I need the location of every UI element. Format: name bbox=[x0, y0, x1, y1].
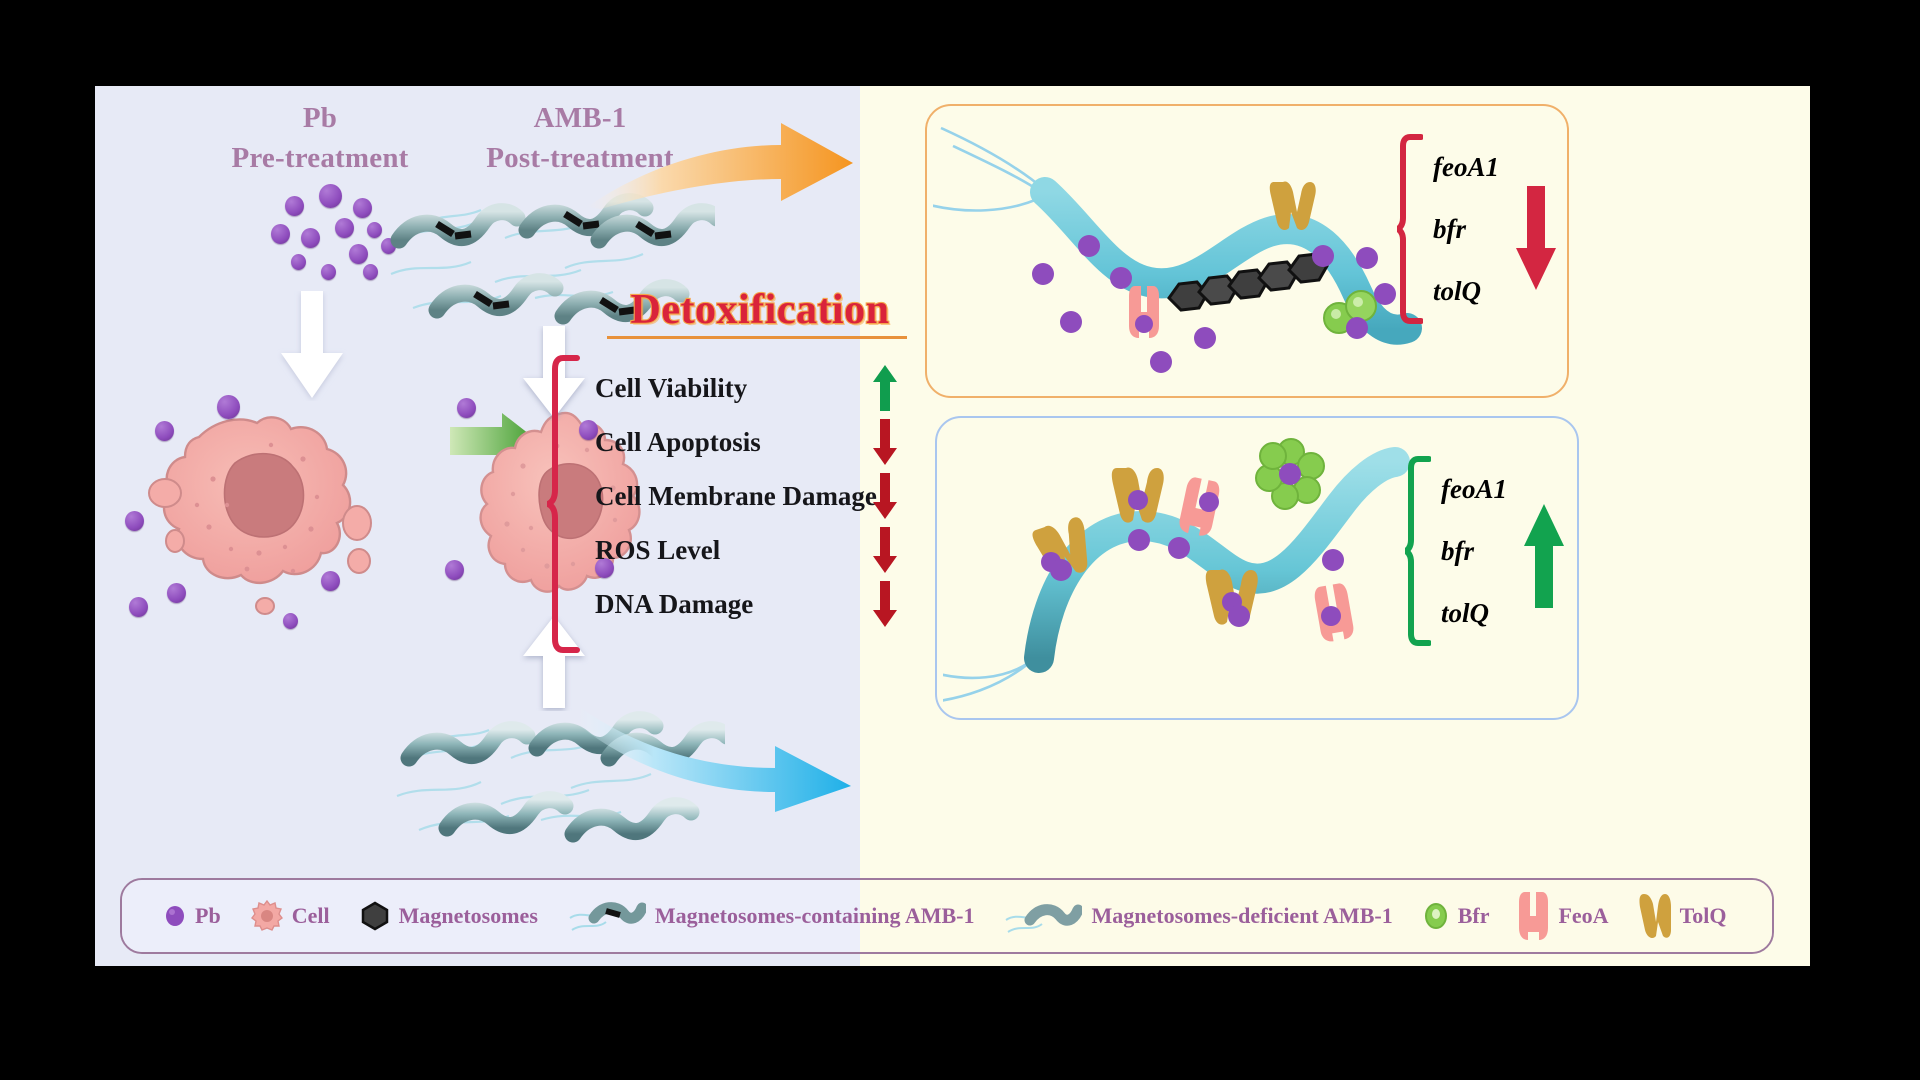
gene-name: tolQ bbox=[1433, 260, 1499, 322]
endpoint-row-dna-damage: DNA Damage bbox=[595, 577, 895, 631]
column-heading-pb-line1: Pb bbox=[210, 98, 430, 138]
bacterium-with-magnetosomes-illustration bbox=[933, 106, 1453, 392]
gene-name: feoA1 bbox=[1441, 458, 1507, 520]
gene-bracket-red bbox=[1397, 134, 1423, 324]
legend-label: Magnetosomes bbox=[399, 903, 538, 929]
legend-label: Magnetosomes-containing AMB-1 bbox=[655, 903, 975, 929]
cell-icon bbox=[251, 900, 283, 932]
bfr-icon bbox=[1423, 901, 1449, 931]
endpoint-label: Cell Apoptosis bbox=[595, 427, 761, 458]
amb1-without-magnetosomes-icon bbox=[1004, 894, 1082, 938]
endpoints-brace bbox=[547, 354, 581, 659]
detoxification-underline bbox=[607, 336, 907, 339]
pb-dot-icon bbox=[164, 904, 186, 928]
figure-canvas: Pb Pre-treatment AMB-1 Post-treatment bbox=[95, 86, 1810, 966]
gene-name: bfr bbox=[1433, 198, 1499, 260]
blue-curved-arrow bbox=[575, 706, 865, 821]
gene-name: feoA1 bbox=[1433, 136, 1499, 198]
feoa-icon bbox=[1313, 582, 1355, 643]
tolq-icon bbox=[1639, 892, 1671, 940]
legend-label: Magnetosomes-deficient AMB-1 bbox=[1091, 903, 1392, 929]
gene-group-downregulated: feoA1 bfr tolQ bbox=[1397, 134, 1557, 324]
screenshot-root: Pb Pre-treatment AMB-1 Post-treatment bbox=[0, 0, 1920, 1080]
endpoint-row-cell-viability: Cell Viability bbox=[595, 361, 895, 415]
endpoint-label: DNA Damage bbox=[595, 589, 753, 620]
arrow-down-cell-apoptosis bbox=[865, 415, 905, 469]
gene-bracket-green bbox=[1405, 456, 1431, 646]
endpoint-label: Cell Membrane Damage bbox=[595, 481, 877, 512]
arrow-down-ros-level bbox=[865, 523, 905, 577]
endpoint-list: Cell Viability Cell Apoptosis Cell Membr… bbox=[595, 361, 895, 631]
gene-name: tolQ bbox=[1441, 582, 1507, 644]
endpoint-row-cell-membrane-damage: Cell Membrane Damage bbox=[595, 469, 895, 523]
arrow-down-dna-damage bbox=[865, 577, 905, 631]
legend-item-magnetosomes: Magnetosomes bbox=[360, 901, 538, 931]
endpoint-row-cell-apoptosis: Cell Apoptosis bbox=[595, 415, 895, 469]
bfr-icon bbox=[1256, 439, 1324, 509]
endpoint-label: ROS Level bbox=[595, 535, 720, 566]
legend-item-cell: Cell bbox=[251, 900, 330, 932]
column-heading-pb-line2: Pre-treatment bbox=[210, 138, 430, 178]
legend-item-tolq: TolQ bbox=[1639, 892, 1727, 940]
feoa-icon bbox=[1519, 892, 1549, 940]
legend-item-pb: Pb bbox=[164, 903, 221, 929]
legend-label: Pb bbox=[195, 903, 221, 929]
legend-item-bfr: Bfr bbox=[1423, 901, 1490, 931]
panel-magnetosomes-containing: feoA1 bfr tolQ bbox=[925, 104, 1569, 398]
gene-names-top: feoA1 bfr tolQ bbox=[1433, 136, 1499, 322]
arrow-up-gene-expression bbox=[1523, 504, 1565, 608]
panel-magnetosomes-deficient: feoA1 bfr tolQ bbox=[935, 416, 1579, 720]
gene-name: bfr bbox=[1441, 520, 1507, 582]
legend-label: TolQ bbox=[1680, 903, 1727, 929]
endpoint-direction-arrows bbox=[865, 361, 905, 631]
legend-bar: Pb Cell Magnetosomes bbox=[120, 878, 1774, 954]
damaged-cell-illustration bbox=[135, 401, 395, 621]
orange-curved-arrow bbox=[585, 101, 865, 216]
legend-item-feoa: FeoA bbox=[1519, 892, 1608, 940]
arrow-up-cell-viability bbox=[865, 361, 905, 415]
legend-item-amb1-containing: Magnetosomes-containing AMB-1 bbox=[568, 894, 975, 938]
legend-label: FeoA bbox=[1558, 903, 1608, 929]
gene-names-bottom: feoA1 bfr tolQ bbox=[1441, 458, 1507, 644]
amb1-with-magnetosomes-icon bbox=[568, 894, 646, 938]
magnetosome-hexagon-icon bbox=[360, 901, 390, 931]
legend-item-amb1-deficient: Magnetosomes-deficient AMB-1 bbox=[1004, 894, 1392, 938]
gene-group-upregulated: feoA1 bfr tolQ bbox=[1405, 456, 1565, 646]
feoa-icon bbox=[1177, 476, 1221, 538]
legend-label: Bfr bbox=[1458, 903, 1490, 929]
white-down-arrow-pb-to-cell bbox=[277, 291, 347, 401]
column-heading-pb: Pb Pre-treatment bbox=[210, 98, 430, 178]
endpoint-label: Cell Viability bbox=[595, 373, 747, 404]
detoxification-title: Detoxification bbox=[595, 286, 925, 334]
bacterium-without-magnetosomes-illustration bbox=[943, 418, 1463, 714]
legend-label: Cell bbox=[292, 903, 330, 929]
arrow-down-cell-membrane-damage bbox=[865, 469, 905, 523]
arrow-down-gene-expression bbox=[1515, 186, 1557, 290]
endpoint-row-ros-level: ROS Level bbox=[595, 523, 895, 577]
